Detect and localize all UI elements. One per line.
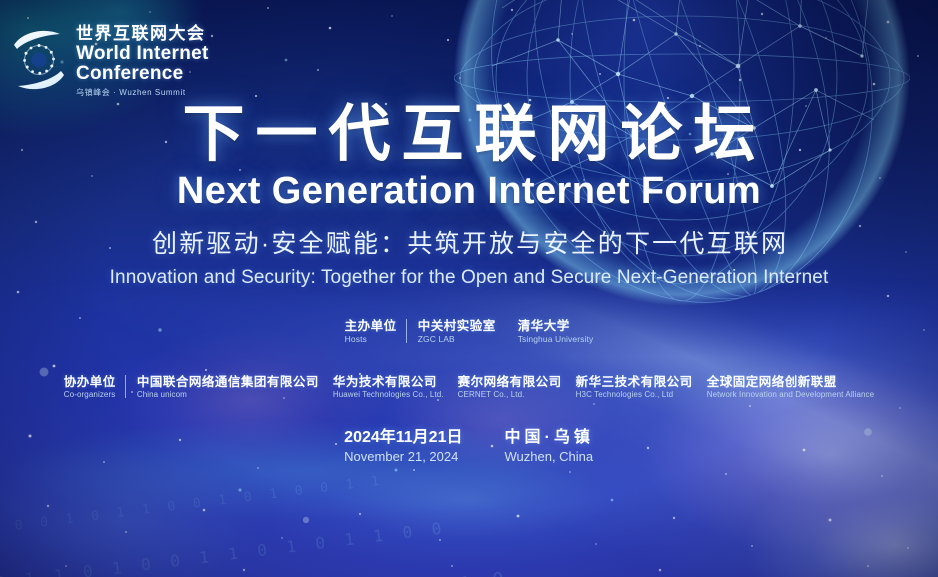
- event-place: 中国·乌镇 Wuzhen, China: [504, 428, 593, 465]
- host-item-tsinghua: 清华大学 Tsinghua University: [518, 318, 594, 345]
- co-organizers-label-group: 协办单位 Co-organizers 中国联合网络通信集团有限公司 China …: [64, 374, 319, 400]
- host-item-zgc-lab: 中关村实验室 ZGC LAB: [418, 318, 496, 345]
- logo-chinese-name: 世界互联网大会: [76, 24, 209, 44]
- poster-root: 1 0 0 1 0 1 1 0 0 1 0 1 0 0 1 1 0 1 1 0 …: [0, 0, 938, 577]
- host-name-cn: 清华大学: [518, 318, 594, 334]
- conference-logo-text: 世界互联网大会 World Internet Conference 乌镇峰会 ·…: [76, 22, 209, 98]
- hosts-label-cn: 主办单位: [345, 318, 397, 334]
- co-organizers-divider: [125, 375, 126, 398]
- co-organizer-item-h3c: 新华三技术有限公司 H3C Technologies Co., Ltd: [576, 374, 693, 400]
- co-organizer-name-en: CERNET Co., Ltd.: [458, 390, 562, 400]
- co-organizers-row: 协办单位 Co-organizers 中国联合网络通信集团有限公司 China …: [0, 374, 938, 400]
- co-organizer-item-cernet: 赛尔网络有限公司 CERNET Co., Ltd.: [458, 374, 562, 400]
- co-organizer-name-cn: 中国联合网络通信集团有限公司: [137, 374, 319, 390]
- subtitle-english: Innovation and Security: Together for th…: [0, 268, 938, 287]
- page-title-english: Next Generation Internet Forum: [0, 172, 938, 210]
- co-organizer-item-nida: 全球固定网络创新联盟 Network Innovation and Develo…: [707, 374, 875, 400]
- co-organizers-label-en: Co-organizers: [64, 390, 116, 400]
- hosts-row: 主办单位 Hosts 中关村实验室 ZGC LAB 清华大学 Tsinghua …: [0, 318, 938, 345]
- logo-english-line1: World Internet: [76, 44, 209, 65]
- hosts-label-group: 主办单位 Hosts 中关村实验室 ZGC LAB: [345, 318, 496, 345]
- host-name-en: ZGC LAB: [418, 334, 496, 345]
- subtitle-chinese: 创新驱动·安全赋能：共筑开放与安全的下一代互联网: [0, 232, 938, 257]
- poster-content: 世界互联网大会 World Internet Conference 乌镇峰会 ·…: [0, 0, 938, 577]
- co-organizers-label-cn: 协办单位: [64, 374, 116, 390]
- co-organizer-item-china-unicom: 中国联合网络通信集团有限公司 China unicom: [137, 374, 319, 400]
- conference-logo: 世界互联网大会 World Internet Conference 乌镇峰会 ·…: [10, 22, 209, 98]
- co-organizer-name-cn: 全球固定网络创新联盟: [707, 374, 875, 390]
- event-date-cn: 2024年11月21日: [344, 428, 462, 449]
- event-place-cn: 中国·乌镇: [504, 428, 593, 449]
- event-date: 2024年11月21日 November 21, 2024: [344, 428, 462, 465]
- co-organizer-name-en: Network Innovation and Development Allia…: [707, 390, 875, 400]
- host-name-en: Tsinghua University: [518, 334, 594, 345]
- hosts-label-en: Hosts: [345, 334, 397, 345]
- event-place-en: Wuzhen, China: [504, 449, 593, 465]
- event-date-en: November 21, 2024: [344, 449, 462, 465]
- logo-english-line2: Conference: [76, 64, 209, 85]
- hosts-label: 主办单位 Hosts: [345, 318, 397, 345]
- co-organizer-name-en: H3C Technologies Co., Ltd: [576, 390, 693, 400]
- world-internet-conference-eye-icon: [10, 23, 68, 97]
- co-organizer-name-en: Huawei Technologies Co., Ltd.: [333, 390, 444, 400]
- co-organizer-name-cn: 华为技术有限公司: [333, 374, 444, 390]
- hosts-divider: [406, 319, 407, 343]
- co-organizers-label: 协办单位 Co-organizers: [64, 374, 116, 400]
- event-datebar: 2024年11月21日 November 21, 2024 中国·乌镇 Wuzh…: [0, 428, 938, 465]
- co-organizer-name-cn: 赛尔网络有限公司: [458, 374, 562, 390]
- co-organizer-item-huawei: 华为技术有限公司 Huawei Technologies Co., Ltd.: [333, 374, 444, 400]
- host-name-cn: 中关村实验室: [418, 318, 496, 334]
- page-title-chinese: 下一代互联网论坛: [0, 104, 938, 166]
- logo-summit-line: 乌镇峰会 · Wuzhen Summit: [76, 87, 209, 98]
- co-organizer-name-cn: 新华三技术有限公司: [576, 374, 693, 390]
- co-organizer-name-en: China unicom: [137, 390, 319, 400]
